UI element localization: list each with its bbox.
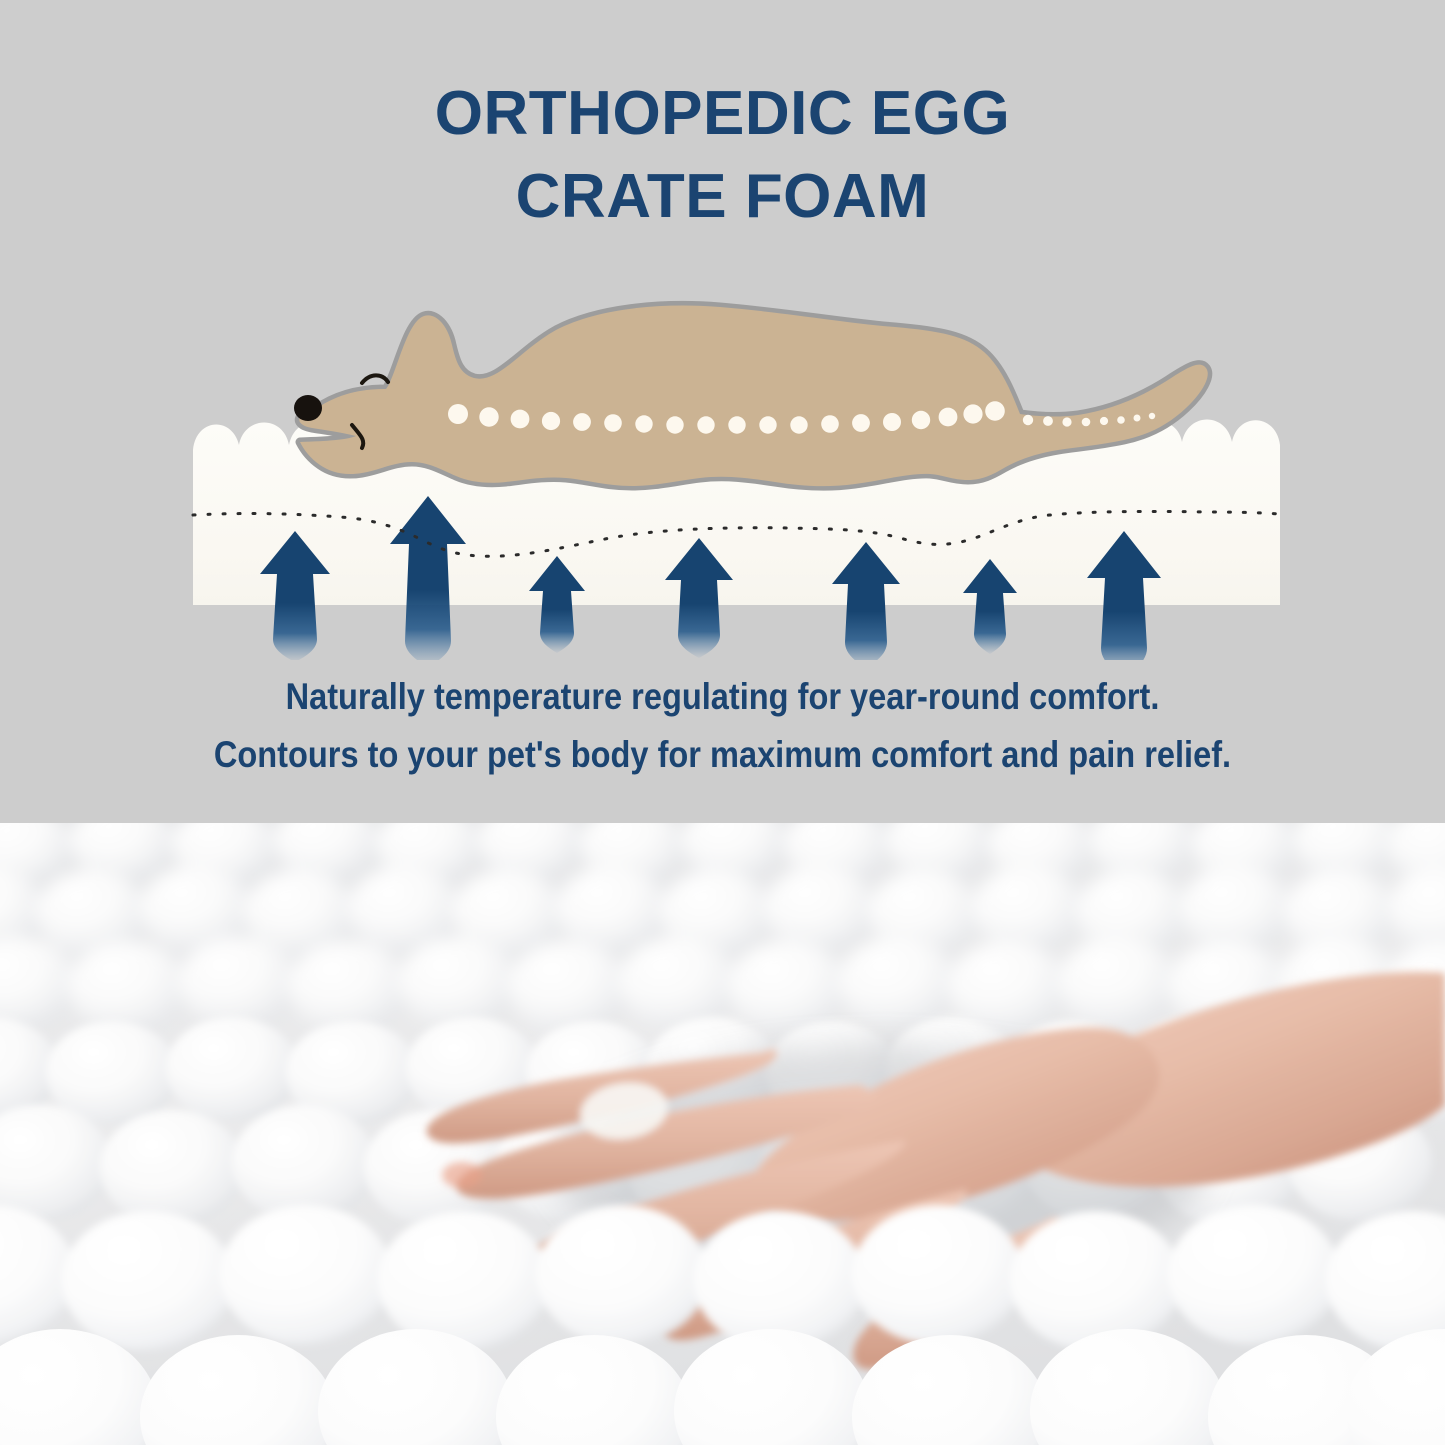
caption-line-2: Contours to your pet's body for maximum … (87, 726, 1359, 784)
dog-eye-icon (362, 375, 388, 383)
foam-photo-svg (0, 823, 1445, 1445)
info-panel: ORTHOPEDIC EGG CRATE FOAM (0, 0, 1445, 823)
fingertip-tint (442, 1162, 482, 1188)
dog-nose-icon (294, 395, 322, 421)
feature-caption: Naturally temperature regulating for yea… (0, 668, 1445, 784)
foam-texture-photo (0, 823, 1445, 1445)
caption-line-1: Naturally temperature regulating for yea… (87, 668, 1359, 726)
product-infographic: ORTHOPEDIC EGG CRATE FOAM (0, 0, 1445, 1445)
foam-support-diagram (0, 290, 1445, 660)
page-title: ORTHOPEDIC EGG CRATE FOAM (0, 72, 1445, 238)
foam-bumps-far (0, 823, 1445, 1033)
